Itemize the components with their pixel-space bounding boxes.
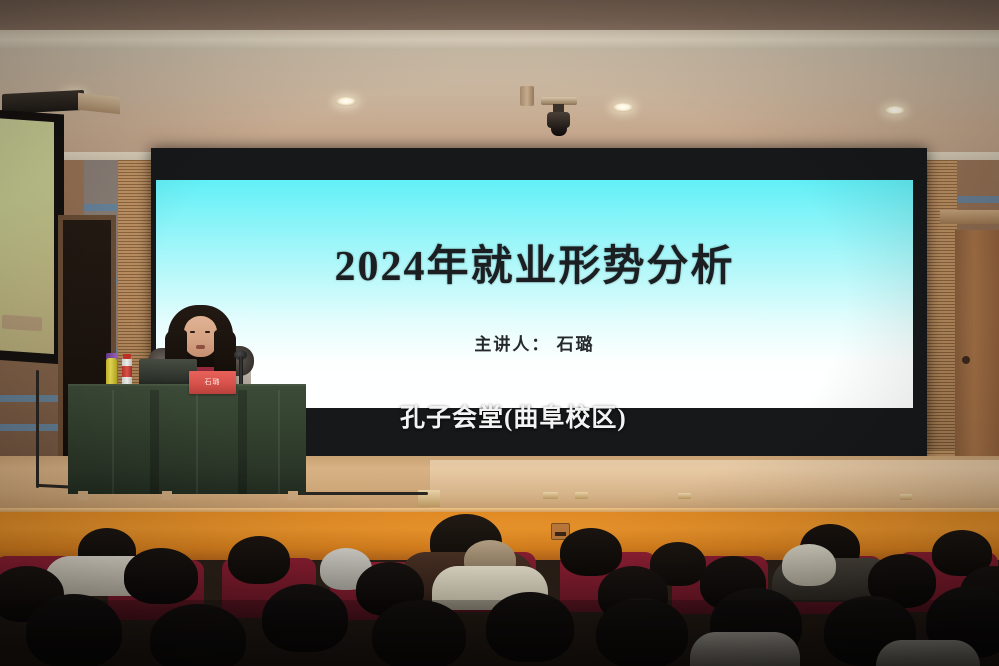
ceiling-panel [0, 50, 999, 158]
audience-head [596, 598, 688, 666]
table-leg [288, 491, 298, 500]
lecture-hall-photo: ▪▪▪ 2024年就业形势分析 主讲人： 石璐 孔子会堂(曲阜校区) [0, 0, 999, 666]
ceiling-beam [0, 30, 999, 52]
audience-shoulders [876, 640, 980, 666]
ceiling-downlight-cylinder [520, 86, 534, 106]
audience-head [124, 548, 198, 604]
audience-head [486, 592, 574, 662]
presentation-slide: 2024年就业形势分析 主讲人： 石璐 [156, 180, 913, 408]
stage-cable [296, 492, 428, 495]
wall-accent-stripe [0, 395, 62, 402]
tablecloth-fold [112, 390, 114, 494]
speaker-eye-left [190, 331, 195, 333]
stage-floor-box [900, 494, 912, 500]
audience-head [228, 536, 290, 584]
audience-head [262, 584, 348, 652]
slide-title: 2024年就业形势分析 [156, 232, 913, 293]
speaker-face [184, 316, 217, 357]
ceiling-spotlight [612, 103, 634, 112]
tablecloth-shadow [150, 390, 159, 494]
slide-subtitle: 主讲人： 石璐 [156, 330, 913, 355]
water-bottle-label [122, 366, 132, 377]
ceiling-upper-slab [0, 0, 999, 34]
wall-accent-stripe [0, 424, 62, 431]
audience-head-hat [782, 544, 836, 586]
tablecloth-fold [196, 392, 198, 494]
speaker-eye-right [205, 331, 210, 333]
audience-head [150, 604, 246, 666]
right-wall-ledge [940, 210, 999, 224]
audience-head [26, 594, 122, 666]
audience-head [372, 600, 466, 666]
wall-cable [36, 370, 39, 488]
stage-floor-box [678, 493, 691, 499]
ceiling-camera-lens-icon [551, 124, 567, 136]
audience-head [560, 528, 622, 576]
door-knob-icon[interactable] [962, 356, 970, 364]
side-screen-content [2, 315, 42, 332]
ceiling-spotlight [884, 106, 906, 115]
stage-floor-box [575, 492, 588, 499]
stage-floor-box [543, 492, 558, 499]
tablecloth-fold [278, 390, 280, 494]
audience-shoulders [690, 632, 800, 666]
table-cloth [68, 386, 306, 494]
tablecloth-shadow [238, 390, 247, 494]
speaker-nameplate-text: 石璐 [189, 377, 236, 387]
venue-caption: 孔子会堂(曲阜校区) [400, 398, 927, 434]
water-bottle-cap [123, 354, 131, 359]
table-leg [162, 491, 172, 500]
table-leg [78, 491, 88, 500]
stage-floor-reflection [430, 460, 999, 510]
ceiling-spotlight [335, 97, 357, 106]
speaker-mouth [196, 345, 205, 349]
